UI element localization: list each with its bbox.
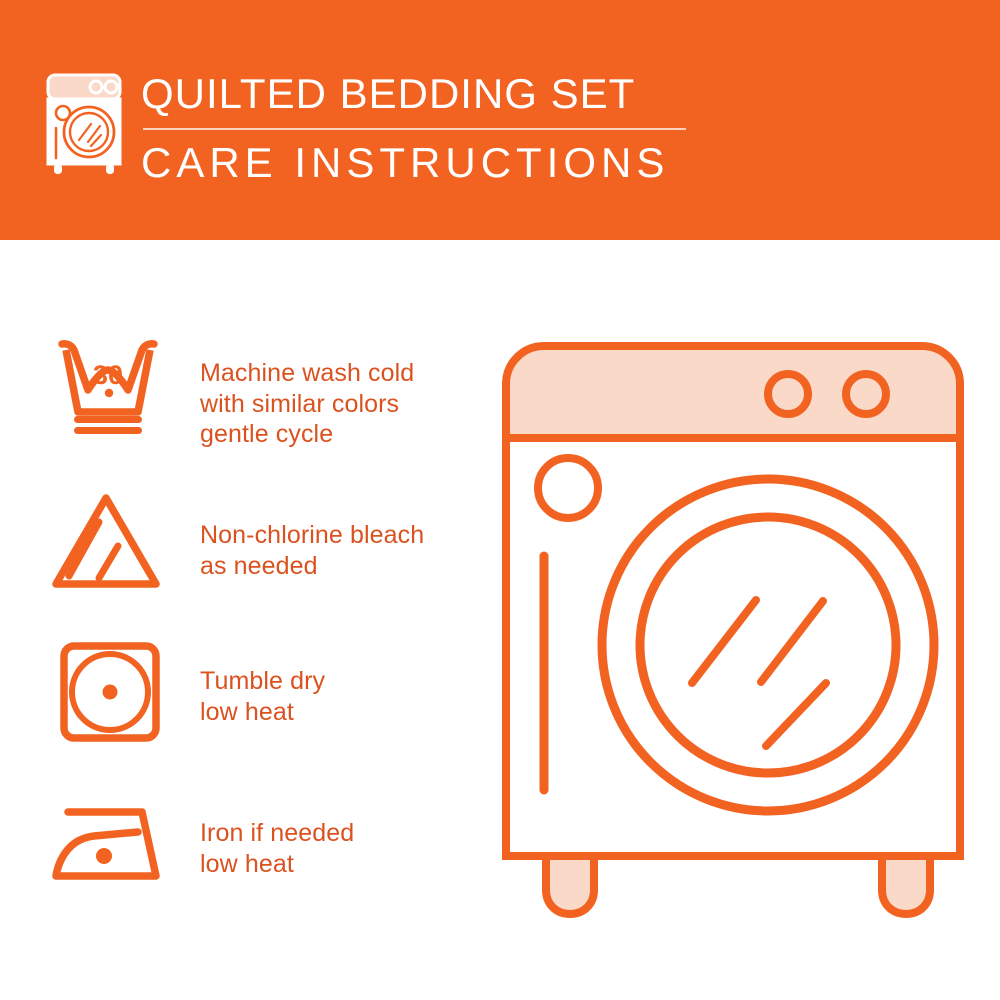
title-divider bbox=[143, 128, 686, 130]
care-text-line: Non-chlorine bleach bbox=[200, 520, 424, 551]
care-text-line: Machine wash cold bbox=[200, 358, 414, 389]
iron-low-heat-icon bbox=[46, 792, 166, 902]
non-chlorine-bleach-triangle-icon bbox=[46, 488, 166, 598]
care-text-line: Tumble dry bbox=[200, 666, 325, 697]
care-text-wash: Machine wash cold with similar colors ge… bbox=[200, 358, 414, 450]
care-text-line: as needed bbox=[200, 551, 424, 582]
care-text-line: with similar colors bbox=[200, 389, 414, 420]
knob-right bbox=[846, 374, 886, 414]
care-row-wash: 30 Machine wash cold with similar colors… bbox=[0, 330, 480, 476]
washing-machine-logo-icon bbox=[45, 72, 123, 176]
care-text-bleach: Non-chlorine bleach as needed bbox=[200, 520, 424, 581]
care-text-line: low heat bbox=[200, 697, 325, 728]
page-subtitle: CARE INSTRUCTIONS bbox=[141, 139, 701, 187]
leg-left bbox=[546, 856, 594, 914]
header-text-block: QUILTED BEDDING SET CARE INSTRUCTIONS bbox=[141, 70, 701, 187]
care-text-line: low heat bbox=[200, 849, 354, 880]
care-instruction-list: 30 Machine wash cold with similar colors… bbox=[0, 330, 480, 914]
care-row-bleach: Non-chlorine bleach as needed bbox=[0, 476, 480, 622]
leg-right bbox=[882, 856, 930, 914]
care-instructions-page: QUILTED BEDDING SET CARE INSTRUCTIONS 30… bbox=[0, 0, 1000, 1000]
care-text-line: Iron if needed bbox=[200, 818, 354, 849]
header-banner: QUILTED BEDDING SET CARE INSTRUCTIONS bbox=[0, 0, 1000, 240]
care-row-tumble-dry: Tumble dry low heat bbox=[0, 622, 480, 768]
knob-left bbox=[768, 374, 808, 414]
control-panel bbox=[506, 346, 960, 438]
washing-machine-illustration bbox=[498, 338, 968, 928]
care-text-line: gentle cycle bbox=[200, 419, 414, 450]
wash-basin-30-gentle-icon: 30 bbox=[48, 330, 168, 440]
page-title: QUILTED BEDDING SET bbox=[141, 70, 701, 118]
care-text-tumble-dry: Tumble dry low heat bbox=[200, 666, 325, 727]
wash-temperature-label: 30 bbox=[93, 360, 123, 390]
care-row-iron: Iron if needed low heat bbox=[0, 768, 480, 914]
tumble-dry-low-heat-icon bbox=[52, 640, 172, 750]
care-text-iron: Iron if needed low heat bbox=[200, 818, 354, 879]
